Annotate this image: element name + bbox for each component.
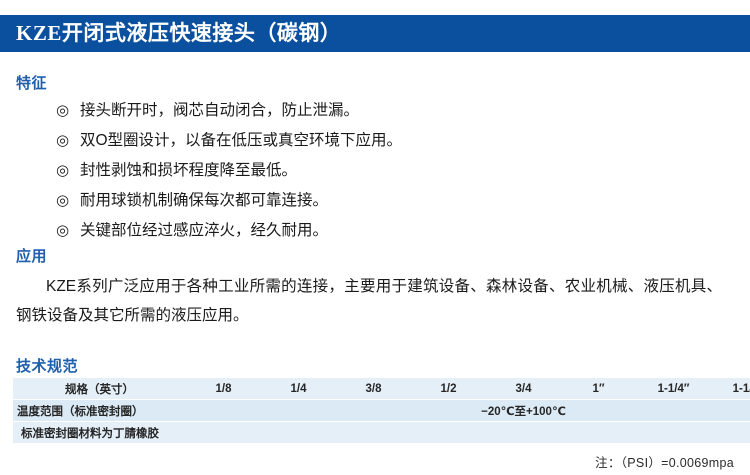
table-row: 规格（英寸） 1/8 1/4 3/8 1/2 3/4 1″ 1-1/4″ 1-1… [13,378,750,399]
list-item: ◎ 双O型圈设计，以备在低压或真空环境下应用。 [56,126,716,156]
list-item-label: 接头断开时，阀芯自动闭合，防止泄漏。 [80,96,359,126]
product-spec-page: KZE开闭式液压快速接头（碳钢） 特征 ◎ 接头断开时，阀芯自动闭合，防止泄漏。… [0,0,750,475]
table-row-header: 温度范围（标准密封圈） [13,400,186,421]
table-cell: −20℃至+100℃ [186,400,750,421]
double-circle-bullet-icon: ◎ [56,216,80,246]
list-item: ◎ 耐用球锁机制确保每次都可靠连接。 [56,186,716,216]
double-circle-bullet-icon: ◎ [56,96,80,126]
section-heading-application: 应用 [16,245,47,266]
list-item-label: 封性剥蚀和损坏程度降至最低。 [80,156,297,186]
double-circle-bullet-icon: ◎ [56,156,80,186]
table-cell: 1-1/4″ [636,378,711,399]
double-circle-bullet-icon: ◎ [56,186,80,216]
table-cell: 1/4 [261,378,336,399]
product-title-bar: KZE开闭式液压快速接头（碳钢） [0,15,750,52]
footer-note: 注：（PSI）=0.0069mpa [595,452,734,471]
table-row-header: 标准密封圈材料为丁腈橡胶 [13,422,750,443]
table-row: 标准密封圈材料为丁腈橡胶 [13,422,750,443]
list-item-label: 耐用球锁机制确保每次都可靠连接。 [80,186,328,216]
section-heading-features: 特征 [16,72,47,93]
features-list: ◎ 接头断开时，阀芯自动闭合，防止泄漏。 ◎ 双O型圈设计，以备在低压或真空环境… [56,96,716,246]
table-cell: 1/2 [411,378,486,399]
application-paragraph: KZE系列广泛应用于各种工业所需的连接，主要用于建筑设备、森林设备、农业机械、液… [16,272,722,330]
table-cell: 3/8 [336,378,411,399]
double-circle-bullet-icon: ◎ [56,126,80,156]
table-cell: 1″ [561,378,636,399]
list-item-label: 双O型圈设计，以备在低压或真空环境下应用。 [80,126,402,156]
table-cell: 1-1/2″ [711,378,750,399]
table-row-header: 规格（英寸） [13,378,186,399]
list-item: ◎ 封性剥蚀和损坏程度降至最低。 [56,156,716,186]
table-row: 温度范围（标准密封圈） −20℃至+100℃ [13,400,750,421]
list-item-label: 关键部位经过感应淬火，经久耐用。 [80,216,328,246]
table-cell: 3/4 [486,378,561,399]
specification-table: 规格（英寸） 1/8 1/4 3/8 1/2 3/4 1″ 1-1/4″ 1-1… [13,377,750,444]
table-cell: 1/8 [186,378,261,399]
page-title: KZE开闭式液压快速接头（碳钢） [0,23,341,44]
section-heading-technical-specs: 技术规范 [16,355,78,376]
list-item: ◎ 接头断开时，阀芯自动闭合，防止泄漏。 [56,96,716,126]
list-item: ◎ 关键部位经过感应淬火，经久耐用。 [56,216,716,246]
